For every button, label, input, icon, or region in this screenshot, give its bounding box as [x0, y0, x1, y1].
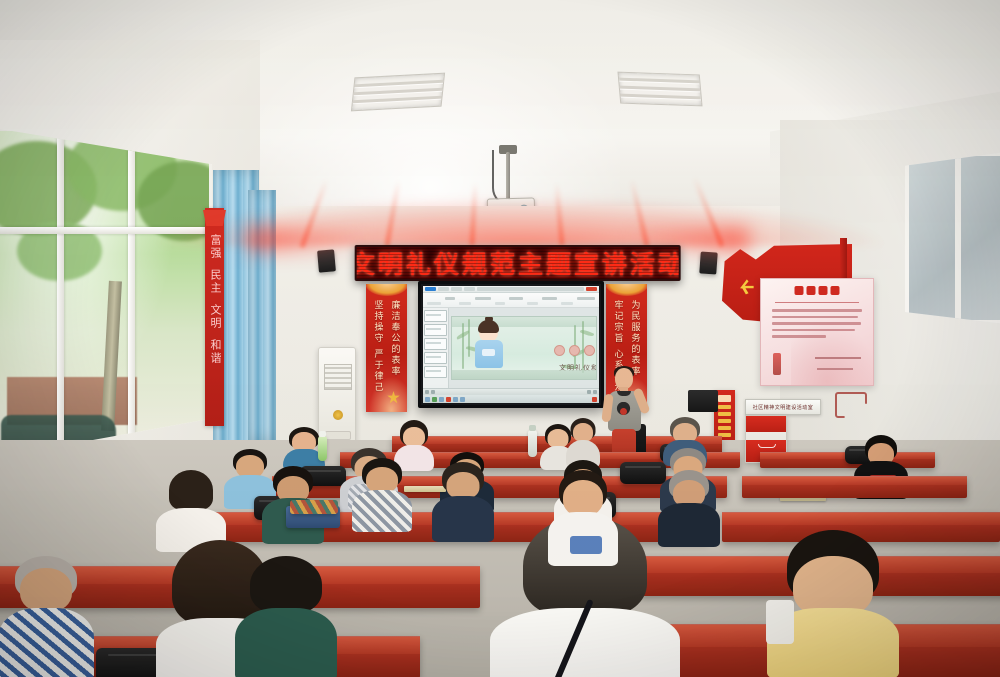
slide-thumbnail[interactable] [424, 324, 447, 336]
presenter-shirt-graphic [616, 402, 631, 418]
ceiling-vent-left [351, 73, 445, 112]
child-head [563, 480, 603, 516]
os-taskbar[interactable] [423, 395, 599, 403]
strip-banner-char-2: 民主 [209, 269, 220, 295]
party-flag-wall-display [722, 238, 874, 406]
ceiling-vent-right [617, 72, 702, 107]
window-right [905, 152, 1000, 324]
person-patterned-shirt [0, 608, 94, 677]
slide-thumbnail[interactable] [424, 338, 447, 350]
slide-medal-icon [584, 345, 595, 356]
panel-signature-line [815, 357, 861, 359]
panel-signature-line-2 [817, 368, 853, 370]
bottle-cap [319, 431, 326, 437]
person-patterned-shirt [352, 490, 412, 532]
room-name-sign: 社区精神文明建设活动室 [745, 399, 821, 415]
panel-text-lines [772, 309, 862, 338]
desk-row-3-right [742, 476, 967, 498]
slide-medal-icon [554, 345, 565, 356]
child-sleeve [766, 600, 794, 644]
ppt-titlebar[interactable] [423, 286, 599, 293]
window-mullion [57, 131, 64, 455]
audience-person-foreground [238, 556, 334, 677]
window-mullion [128, 131, 135, 455]
pillar-banner-left: 坚持操守 严于律己 廉洁奉公的表率 [366, 284, 407, 412]
banner-scenery [366, 372, 407, 412]
party-oath-panel [760, 278, 874, 386]
bottle-cap [529, 425, 536, 431]
powerpoint-window[interactable]: 文明礼仪和礼仪 [423, 286, 599, 403]
person-torso [432, 496, 494, 542]
water-bottle[interactable] [318, 436, 327, 461]
person-head [403, 427, 425, 447]
child-shirt-graphic [570, 536, 602, 554]
slide-thumbnail[interactable] [424, 310, 447, 322]
character-sash [482, 349, 495, 356]
wall-speaker-right [699, 251, 717, 274]
water-bottle[interactable] [528, 430, 537, 457]
classroom-lecture-scene: 富强 民主 文明 和谐 文明礼仪规范主题宣讲活动 [0, 0, 1000, 677]
led-banner: 文明礼仪规范主题宣讲活动 [355, 245, 681, 281]
audience-person [354, 458, 410, 532]
ppt-slide-thumbnails[interactable] [423, 308, 449, 388]
person-hair [169, 470, 213, 510]
panel-torch-icon [773, 353, 781, 375]
person-hair [250, 556, 322, 614]
led-glow-left [248, 228, 368, 252]
person-torso [235, 608, 337, 677]
wall-speaker-left [317, 249, 336, 272]
ppt-ribbon[interactable] [423, 293, 599, 308]
strip-banner-char-3: 文明 [209, 304, 220, 330]
slide-character-illustration [474, 316, 504, 368]
audience-person [434, 462, 492, 540]
ac-control-panel[interactable] [325, 431, 351, 440]
window-mullion [955, 156, 961, 320]
ppt-slide-stage[interactable]: 文明礼仪和礼仪 [449, 308, 599, 388]
room-name-sign-text: 社区精神文明建设活动室 [753, 404, 814, 411]
slide-thumbnail[interactable] [424, 366, 447, 378]
ac-grille [324, 364, 352, 390]
presenter-head [615, 368, 633, 389]
audience-child [548, 470, 618, 566]
ppt-statusbar[interactable] [423, 388, 599, 395]
led-banner-text: 文明礼仪规范主题宣讲活动 [355, 245, 681, 281]
bamboo-stalk-icon [462, 323, 464, 369]
ac-logo-icon [333, 410, 343, 420]
person-head [20, 568, 72, 612]
character-hair [478, 320, 499, 333]
projection-screen[interactable]: 文明礼仪和礼仪 [418, 281, 604, 408]
person-head [447, 472, 480, 499]
bamboo-stalk-icon [468, 319, 470, 357]
av-equipment-box [688, 390, 718, 412]
panel-divider [775, 302, 859, 303]
current-slide: 文明礼仪和礼仪 [451, 316, 597, 380]
slide-thumbnail[interactable] [424, 352, 447, 364]
audience-person [160, 470, 222, 550]
strip-banner-char-4: 和谐 [209, 339, 220, 365]
ppt-workspace[interactable]: 文明礼仪和礼仪 [423, 308, 599, 388]
panel-heading-blocks [795, 286, 840, 295]
window-left [0, 128, 212, 458]
audience-person-foreground [0, 556, 92, 677]
handbag-pattern [290, 500, 338, 514]
banner-sun-graphic [606, 284, 647, 296]
banner-sun-graphic [366, 284, 407, 296]
slide-bottom-band [452, 370, 596, 379]
